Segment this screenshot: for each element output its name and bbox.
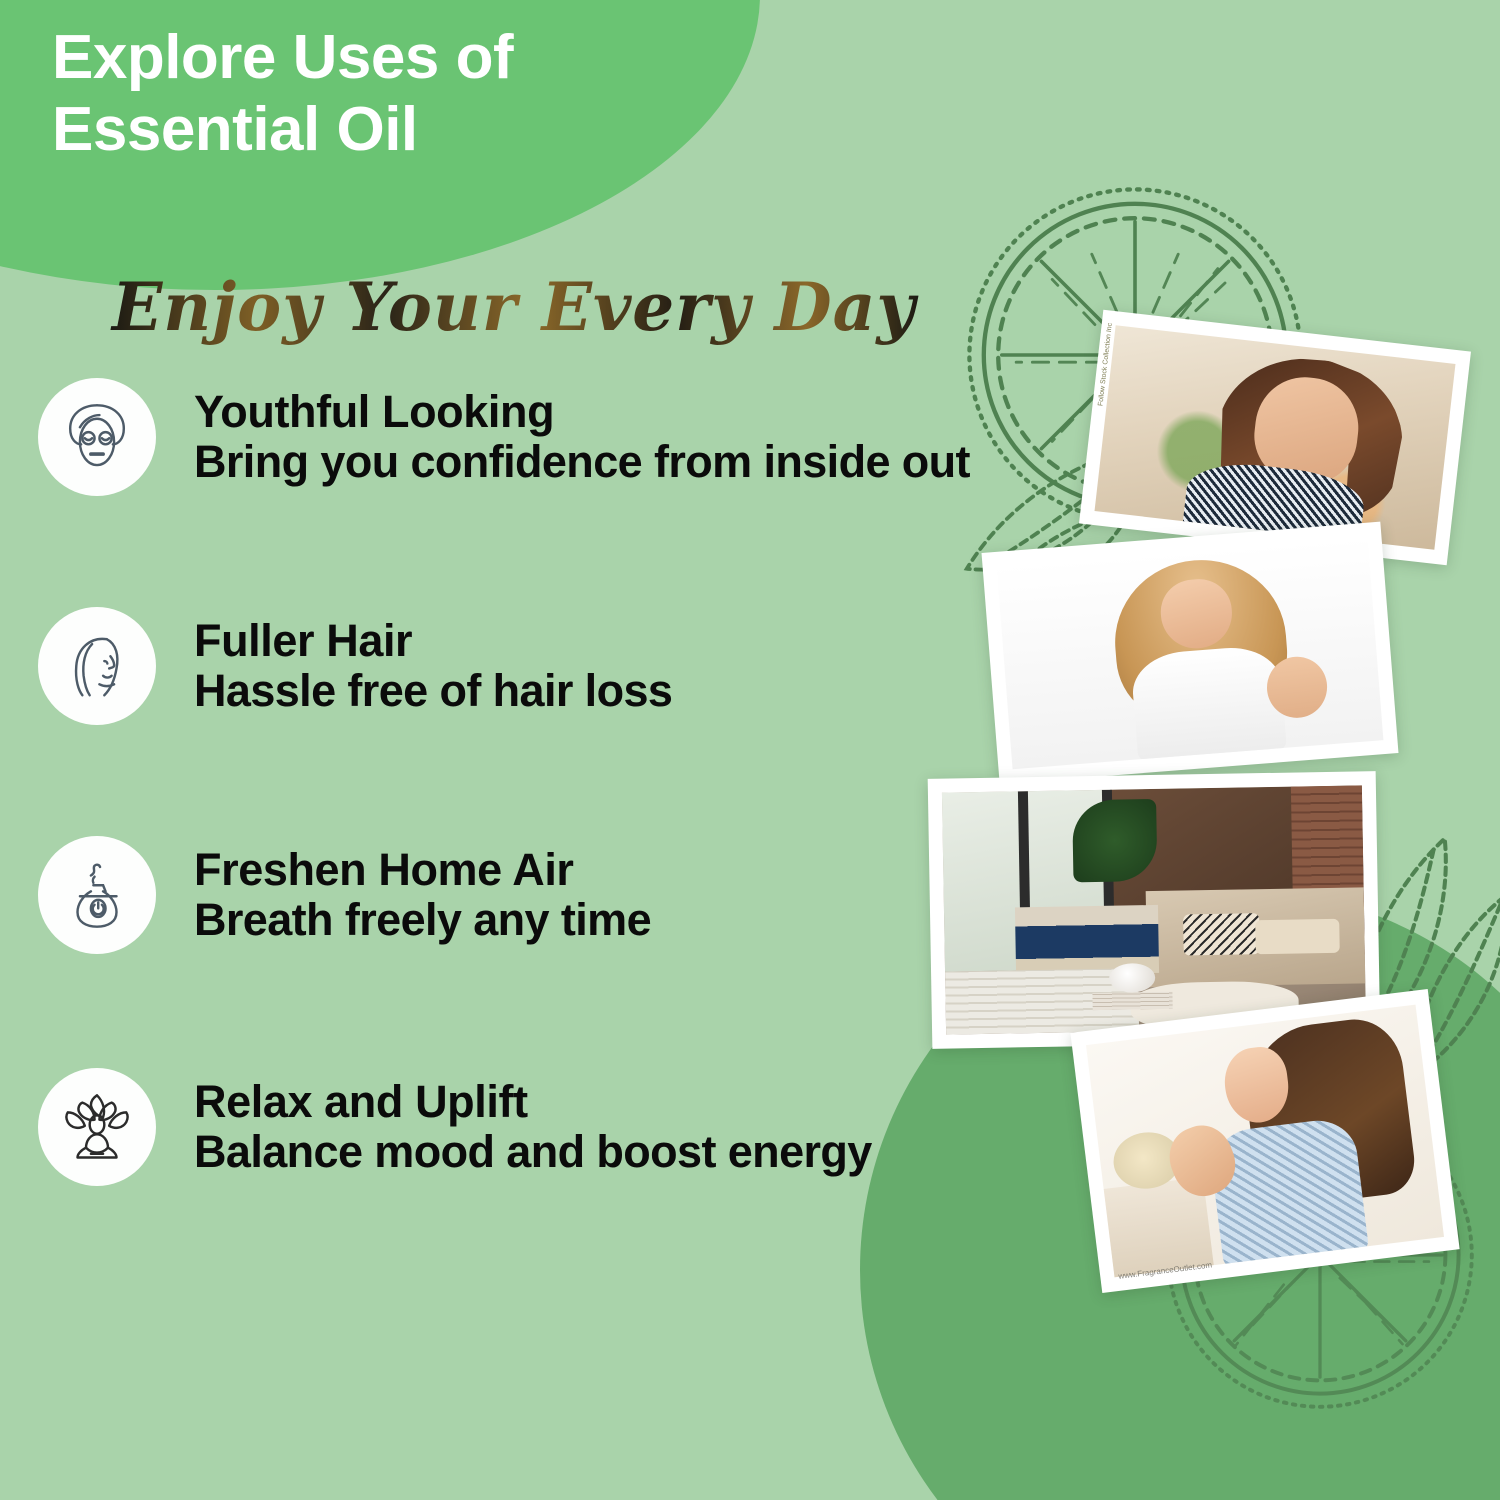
feature-title: Fuller Hair <box>194 616 672 666</box>
feature-subtitle: Bring you confidence from inside out <box>194 437 970 487</box>
photo-blonde-wavy-hair <box>982 522 1399 785</box>
photo-image <box>942 785 1366 1034</box>
photo-woman-spraying-perfume: www.FragranceOutlet.com <box>1070 989 1459 1293</box>
feature-title: Youthful Looking <box>194 387 970 437</box>
photo-detail-pillow <box>1183 913 1259 955</box>
feature-title: Freshen Home Air <box>194 845 651 895</box>
feature-row: Youthful Looking Bring you confidence fr… <box>38 378 970 496</box>
long-hair-profile-icon <box>38 607 156 725</box>
feature-text: Freshen Home Air Breath freely any time <box>194 845 651 946</box>
photo-smiling-woman-cafe: Follow Stock Collection Inc <box>1079 310 1471 566</box>
feature-subtitle: Hassle free of hair loss <box>194 666 672 716</box>
photo-image <box>1086 1005 1444 1278</box>
feature-row: Freshen Home Air Breath freely any time <box>38 836 651 954</box>
feature-text: Relax and Uplift Balance mood and boost … <box>194 1077 872 1178</box>
photo-detail-pillow <box>1255 919 1340 954</box>
aroma-diffuser-icon <box>38 836 156 954</box>
photo-image <box>997 537 1384 770</box>
feature-subtitle: Breath freely any time <box>194 895 651 945</box>
feature-subtitle: Balance mood and boost energy <box>194 1127 872 1177</box>
photo-detail-top <box>1130 644 1287 763</box>
face-mask-icon <box>38 378 156 496</box>
lotus-meditation-icon <box>38 1068 156 1186</box>
feature-title: Relax and Uplift <box>194 1077 872 1127</box>
feature-row: Relax and Uplift Balance mood and boost … <box>38 1068 872 1186</box>
infographic-canvas: Explore Uses of Essential Oil Enjoy Your… <box>0 0 1500 1500</box>
feature-text: Youthful Looking Bring you confidence fr… <box>194 387 970 488</box>
tagline-text: Enjoy Your Every Day <box>110 268 919 346</box>
feature-text: Fuller Hair Hassle free of hair loss <box>194 616 672 717</box>
feature-row: Fuller Hair Hassle free of hair loss <box>38 607 672 725</box>
photo-detail-books <box>1092 992 1172 1010</box>
photo-detail-top <box>1207 1116 1369 1269</box>
tagline: Enjoy Your Every Day <box>112 262 892 354</box>
photo-image <box>1095 325 1456 550</box>
page-title: Explore Uses of Essential Oil <box>52 22 513 166</box>
